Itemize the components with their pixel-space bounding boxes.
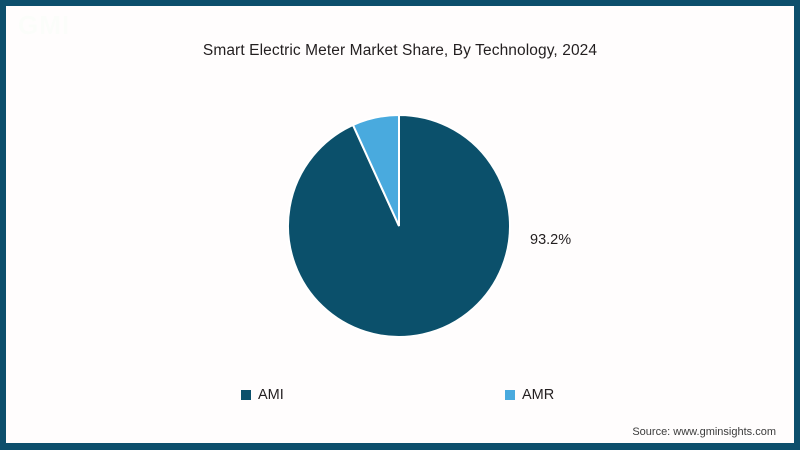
- slice-value-label-ami: 93.2%: [530, 232, 571, 248]
- chart-legend: AMI AMR: [6, 385, 794, 405]
- legend-item-amr[interactable]: AMR: [505, 385, 554, 405]
- pie-chart: [287, 114, 511, 338]
- gmi-watermark-logo: GMI: [18, 10, 70, 41]
- source-attribution: Source: www.gminsights.com: [632, 426, 776, 438]
- legend-swatch-amr: [505, 390, 515, 400]
- pie-chart-svg: [287, 114, 511, 338]
- legend-item-ami[interactable]: AMI: [241, 385, 284, 405]
- chart-frame: GMI Smart Electric Meter Market Share, B…: [0, 0, 800, 450]
- legend-label-amr: AMR: [522, 388, 554, 403]
- legend-swatch-ami: [241, 390, 251, 400]
- page-title: Smart Electric Meter Market Share, By Te…: [6, 42, 794, 60]
- legend-label-ami: AMI: [258, 388, 284, 403]
